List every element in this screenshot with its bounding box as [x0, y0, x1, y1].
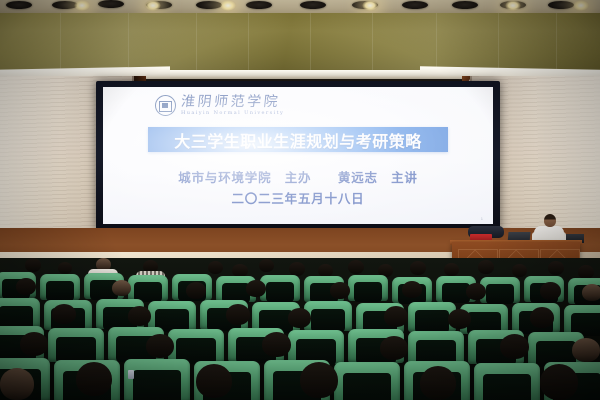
seat: [304, 301, 352, 331]
audience-head: [259, 259, 274, 272]
audience-head: [548, 261, 564, 275]
audience-head: [146, 334, 174, 358]
ceiling-spotlight: [362, 0, 378, 11]
university-name-cn: 淮阴师范学院: [180, 95, 285, 109]
seat: [408, 331, 464, 365]
audience-head: [582, 284, 600, 301]
university-logo: 淮阴师范学院 Huaiyin Normal University: [155, 95, 284, 116]
speaker-head: [544, 214, 556, 227]
audience-head: [330, 282, 350, 299]
seat: [474, 363, 540, 400]
slide-title-bar: 大三学生职业生涯规划与考研策略: [148, 127, 448, 152]
ceiling-spotlight: [505, 0, 521, 11]
audience-head: [52, 304, 76, 324]
audience-head: [420, 366, 456, 400]
seat: [48, 328, 104, 362]
audience-head: [410, 261, 426, 275]
upper-wall: [0, 13, 600, 73]
audience-head: [448, 309, 471, 329]
slide-subtitle-organizer: 城市与环境学院 主办 黄远志 主讲: [103, 167, 493, 186]
audience-head: [112, 280, 131, 296]
audience-head: [208, 261, 223, 274]
audience-head: [300, 362, 338, 398]
audience-seating: [0, 258, 600, 400]
audience-head: [572, 338, 600, 362]
audience-head: [540, 364, 578, 400]
audience-head: [76, 362, 112, 396]
projection-screen: 淮阴师范学院 Huaiyin Normal University 大三学生职业生…: [103, 87, 493, 224]
audience-head: [466, 283, 486, 300]
audience-head: [186, 282, 206, 299]
audience-head: [20, 332, 48, 356]
university-name-en: Huaiyin Normal University: [181, 111, 284, 116]
seat: [124, 359, 190, 400]
ceiling-spotlight: [145, 0, 161, 11]
seat: [480, 277, 520, 303]
audience-head: [0, 368, 34, 400]
university-seal-icon: [155, 95, 176, 116]
slide-title: 大三学生职业生涯规划与考研策略: [174, 128, 422, 152]
seat: [260, 275, 300, 301]
audience-head: [380, 336, 408, 360]
seat: [128, 275, 168, 301]
audience-head: [289, 262, 305, 276]
audience-head: [246, 280, 266, 297]
projection-screen-frame: 淮阴师范学院 Huaiyin Normal University 大三学生职业生…: [96, 81, 500, 231]
auditorium-photo: 淮阴师范学院 Huaiyin Normal University 大三学生职业生…: [0, 0, 600, 400]
audience-head: [128, 306, 151, 326]
slide-subtitle-date: 二〇二三年五月十八日: [103, 188, 493, 207]
audience-head: [530, 307, 554, 328]
seat: [0, 298, 40, 328]
audience-head: [58, 262, 72, 274]
audience-head: [348, 260, 364, 274]
seat: [348, 275, 388, 301]
phone-screen: [128, 370, 134, 379]
seat: [40, 274, 80, 300]
audience-head: [16, 278, 36, 295]
ceiling-spotlight: [573, 0, 589, 11]
audience-head: [500, 334, 529, 359]
seat: [288, 330, 344, 364]
audience-head: [25, 258, 41, 272]
ceiling-spotlight: [74, 0, 90, 11]
audience-head: [578, 265, 594, 279]
ceiling: [0, 0, 600, 14]
audience-head: [444, 263, 459, 276]
seat: [168, 329, 224, 363]
audience-head: [540, 282, 561, 300]
seat: [334, 362, 400, 400]
seat: [564, 305, 600, 335]
audience-head: [226, 304, 250, 325]
audience-head: [384, 306, 408, 327]
audience-head: [512, 264, 527, 277]
audience-head: [402, 281, 422, 298]
audience-head: [262, 332, 291, 357]
ceiling-spotlight: [220, 0, 236, 11]
audience-head: [288, 308, 311, 328]
audience-head: [478, 260, 494, 274]
presentation-slide: 淮阴师范学院 Huaiyin Normal University 大三学生职业生…: [103, 87, 493, 224]
audience-head: [196, 364, 232, 398]
slide-page-number: 1: [481, 216, 483, 221]
